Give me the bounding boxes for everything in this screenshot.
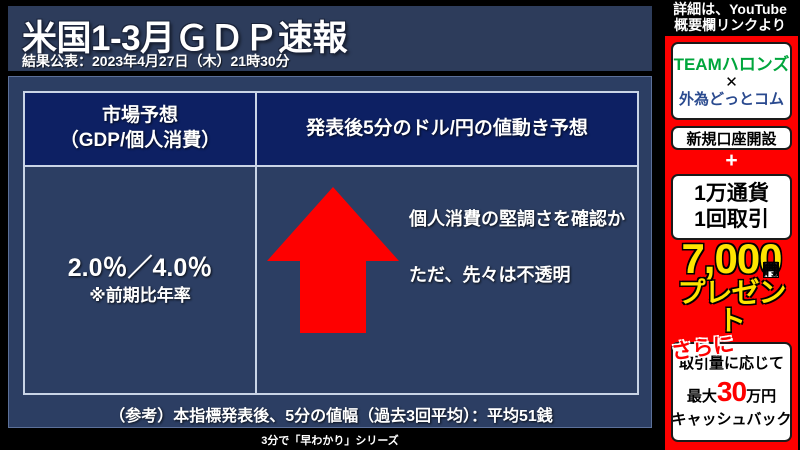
main-content: 米国1-3月ＧＤＰ速報 結果公表：2023年4月27日（木）21時30分 市場予… (0, 0, 660, 450)
brand-team-name: TEAMハロンズ (674, 56, 790, 73)
bonus-amount-block: 7,000 円 プレゼント (665, 240, 798, 335)
outlook-comment-line2: ただ、先々は不透明 (409, 261, 625, 287)
promo-sidebar: 詳細は、YouTube 概要欄リンクより TEAMハロンズ ✕ 外為どっとコム … (660, 0, 800, 450)
header-market-forecast-line2: （GDP/個人消費） (60, 129, 220, 153)
brand-partner-name: 外為どっとコム (679, 92, 784, 107)
promo-header: 詳細は、YouTube 概要欄リンクより (660, 2, 800, 34)
release-datetime: 結果公表：2023年4月27日（木）21時30分 (22, 51, 290, 71)
cashback-line3: キャッシュバック (672, 412, 792, 429)
bonus-amount-unit: 円 (763, 262, 779, 278)
promo-header-line2: 概要欄リンクより (674, 18, 786, 34)
outlook-comment-line1: 個人消費の堅調さを確認か (409, 205, 625, 231)
header-cell-usdjpy-move: 発表後5分のドル/円の値動き予想 (257, 93, 637, 165)
trade-volume-line2: 1回取引 (694, 207, 769, 233)
account-open-label: 新規口座開設 (686, 128, 776, 149)
forecast-note: ※前期比年率 (89, 285, 191, 306)
title-band: 米国1-3月ＧＤＰ速報 結果公表：2023年4月27日（木）21時30分 (8, 6, 652, 71)
cell-outlook: 個人消費の堅調さを確認か ただ、先々は不透明 (257, 167, 637, 393)
trade-volume-line1: 1万通貨 (694, 181, 769, 207)
table-body-row: 2.0％／4.0％ ※前期比年率 個人消費の堅調さを確認か ただ、先々は不透明 (25, 167, 637, 393)
plus-icon: + (665, 150, 798, 171)
reference-footnote: （参考）本指標発表後、5分の値幅（過去3回平均）：平均51銭 (9, 402, 653, 426)
cross-icon: ✕ (725, 75, 738, 90)
cashback-unit: 万円 (746, 385, 776, 406)
header-cell-market-forecast: 市場予想 （GDP/個人消費） (25, 93, 257, 165)
promo-header-line1: 詳細は、YouTube (673, 2, 787, 18)
outlook-comment: 個人消費の堅調さを確認か ただ、先々は不透明 (409, 205, 625, 287)
header-usdjpy-move-label: 発表後5分のドル/円の値動き予想 (306, 117, 588, 141)
forecast-value: 2.0％／4.0％ (68, 253, 213, 283)
up-arrow-icon (265, 185, 401, 335)
header-market-forecast-line1: 市場予想 (102, 104, 178, 128)
bonus-present-label: プレゼント (665, 279, 798, 335)
forecast-table: 市場予想 （GDP/個人消費） 発表後5分のドル/円の値動き予想 2.0％／4.… (23, 91, 639, 395)
trade-volume-card: 1万通貨 1回取引 (671, 174, 792, 240)
brand-card: TEAMハロンズ ✕ 外為どっとコム (671, 42, 792, 120)
account-open-card[interactable]: 新規口座開設 (671, 126, 792, 150)
cell-forecast-values: 2.0％／4.0％ ※前期比年率 (25, 167, 257, 393)
content-panel: 市場予想 （GDP/個人消費） 発表後5分のドル/円の値動き予想 2.0％／4.… (8, 76, 652, 428)
cashback-amount-row: 最大 30 万円 (687, 378, 776, 406)
bonus-amount-number: 7,000 円 (681, 240, 781, 279)
series-tagline: 3分で「早わかり」シリーズ (0, 432, 660, 448)
table-header-row: 市場予想 （GDP/個人消費） 発表後5分のドル/円の値動き予想 (25, 93, 637, 167)
cashback-number: 30 (717, 378, 746, 406)
cashback-max-label: 最大 (687, 385, 717, 406)
promo-panel[interactable]: TEAMハロンズ ✕ 外為どっとコム 新規口座開設 + 1万通貨 1回取引 7,… (665, 36, 798, 450)
